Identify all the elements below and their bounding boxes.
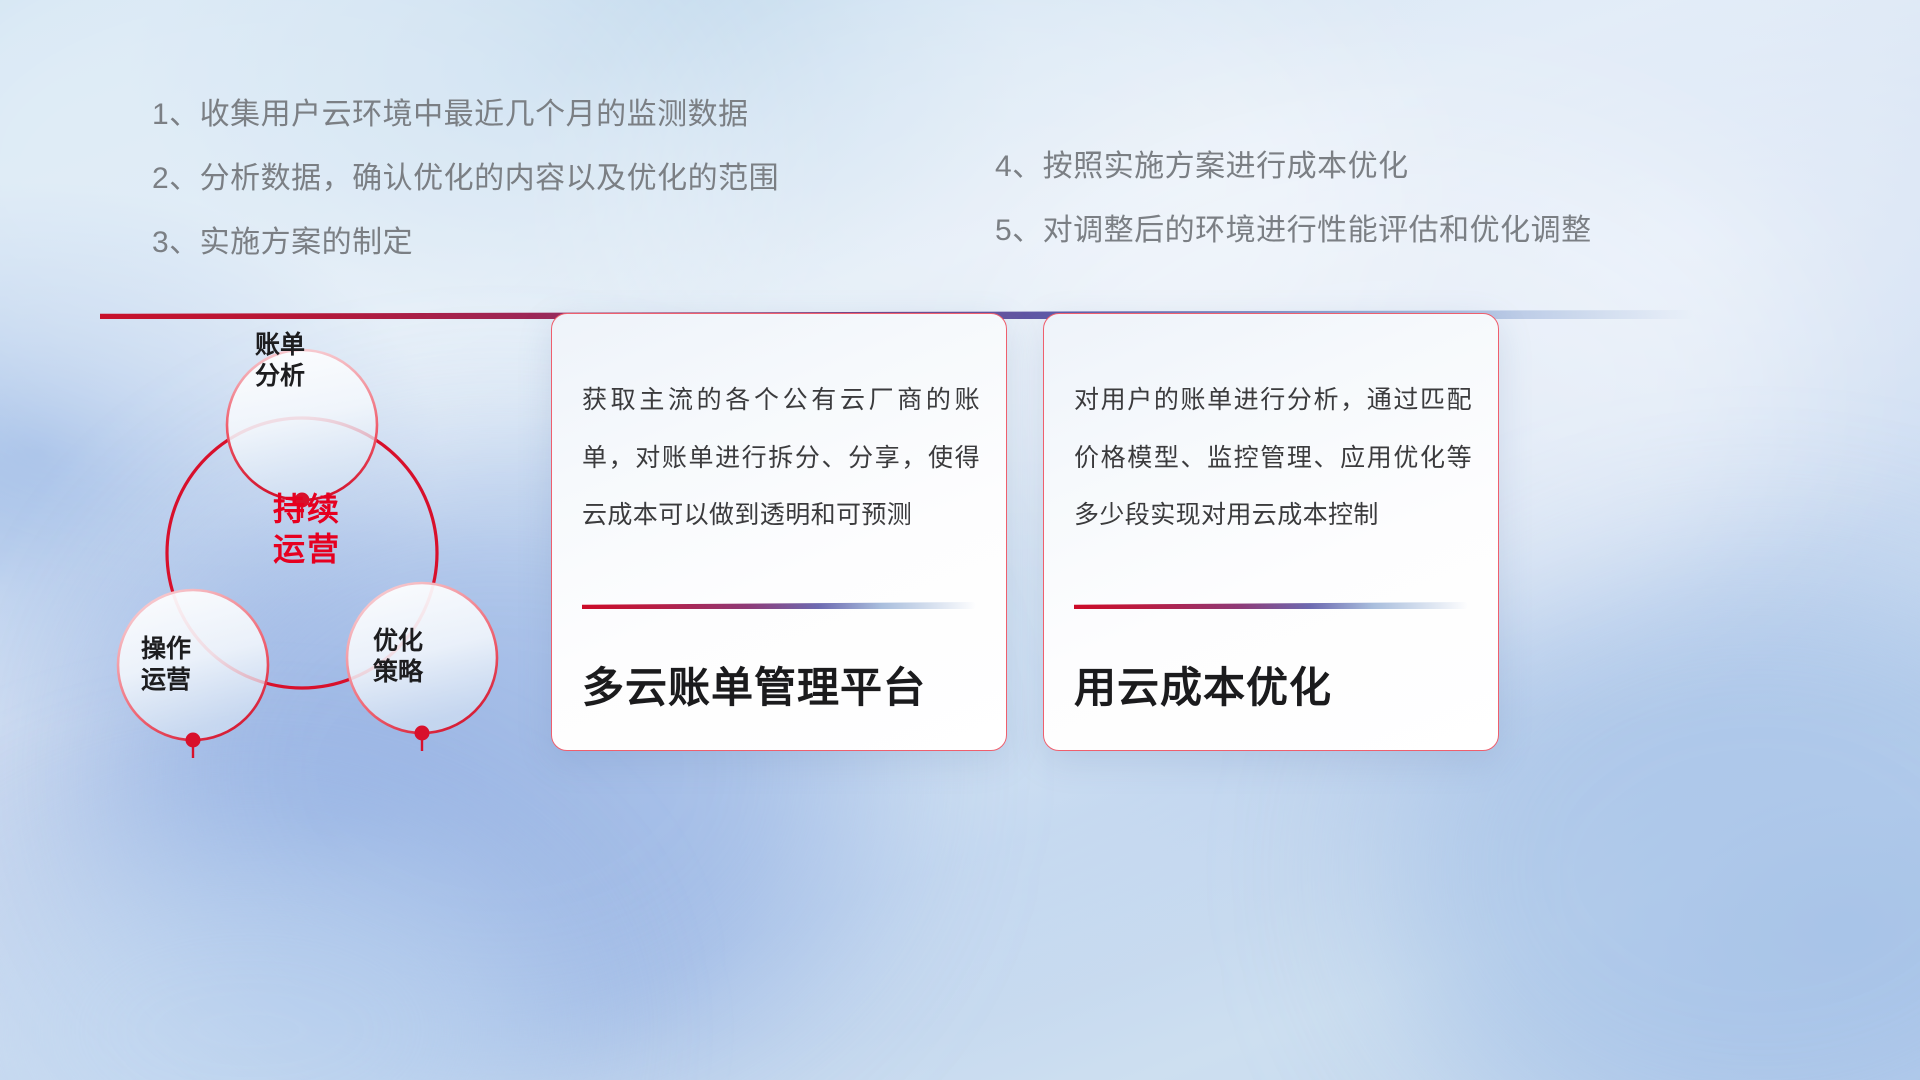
feature-card-multi-cloud-billing-platform[interactable]: 获取主流的各个公有云厂商的账单，对账单进行拆分、分享，使得云成本可以做到透明和可… bbox=[551, 313, 1007, 751]
bullet-list-left: 1、收集用户云环境中最近几个月的监测数据 2、分析数据，确认优化的内容以及优化的… bbox=[152, 100, 779, 292]
bullet-item-1: 1、收集用户云环境中最近几个月的监测数据 bbox=[152, 100, 779, 130]
bullet-list-right: 4、按照实施方案进行成本优化 5、对调整后的环境进行性能评估和优化调整 bbox=[995, 152, 1592, 280]
venn-label-center: 持续 运营 bbox=[222, 490, 392, 569]
card-body-text: 获取主流的各个公有云厂商的账单，对账单进行拆分、分享，使得云成本可以做到透明和可… bbox=[582, 372, 980, 545]
card-divider-rule bbox=[582, 602, 976, 609]
venn-label-billing-analysis: 账单 分析 bbox=[200, 330, 360, 392]
venn-node-dot-left bbox=[186, 733, 201, 748]
card-body-text: 对用户的账单进行分析，通过匹配价格模型、监控管理、应用优化等多少段实现对用云成本… bbox=[1074, 372, 1472, 545]
venn-label-optimization: 优化 策略 bbox=[318, 626, 478, 688]
slide-canvas: 1、收集用户云环境中最近几个月的监测数据 2、分析数据，确认优化的内容以及优化的… bbox=[0, 0, 1920, 1080]
feature-card-cloud-cost-optimization[interactable]: 对用户的账单进行分析，通过匹配价格模型、监控管理、应用优化等多少段实现对用云成本… bbox=[1043, 313, 1499, 751]
card-title: 多云账单管理平台 bbox=[582, 654, 982, 715]
bullet-item-4: 4、按照实施方案进行成本优化 bbox=[995, 152, 1592, 182]
bullet-item-3: 3、实施方案的制定 bbox=[152, 228, 779, 258]
bullet-item-5: 5、对调整后的环境进行性能评估和优化调整 bbox=[995, 216, 1592, 246]
venn-label-operations: 操作 运营 bbox=[86, 634, 246, 696]
background-blob bbox=[0, 820, 560, 1080]
card-divider-rule bbox=[1074, 602, 1468, 609]
bullet-item-2: 2、分析数据，确认优化的内容以及优化的范围 bbox=[152, 164, 779, 194]
card-title: 用云成本优化 bbox=[1074, 654, 1474, 715]
venn-node-dot-right bbox=[415, 726, 430, 741]
